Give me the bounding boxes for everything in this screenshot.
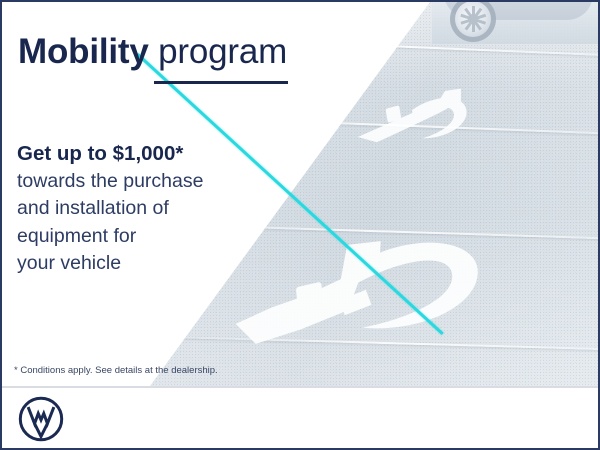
offer-line-5: your vehicle [17,250,203,278]
headline-underline [154,81,288,84]
disclaimer-text: * Conditions apply. See details at the d… [14,365,218,377]
offer-line-3: and installation of [17,195,203,223]
volkswagen-logo[interactable] [18,396,64,442]
wheel-hub [468,14,478,24]
offer-line-2: towards the purchase [17,168,203,196]
mobility-program-banner[interactable]: Mobility program Get up to $1,000* towar… [0,0,600,450]
page-title: Mobility program [18,30,287,74]
headline-light: program [158,32,287,71]
offer-line-4: equipment for [17,223,203,251]
headline-bold: Mobility [18,32,149,71]
banner-creative-area: Mobility program Get up to $1,000* towar… [2,2,598,386]
banner-footer [2,388,598,448]
offer-amount-line: Get up to $1,000* [17,140,203,168]
offer-text: Get up to $1,000* towards the purchase a… [17,140,203,278]
